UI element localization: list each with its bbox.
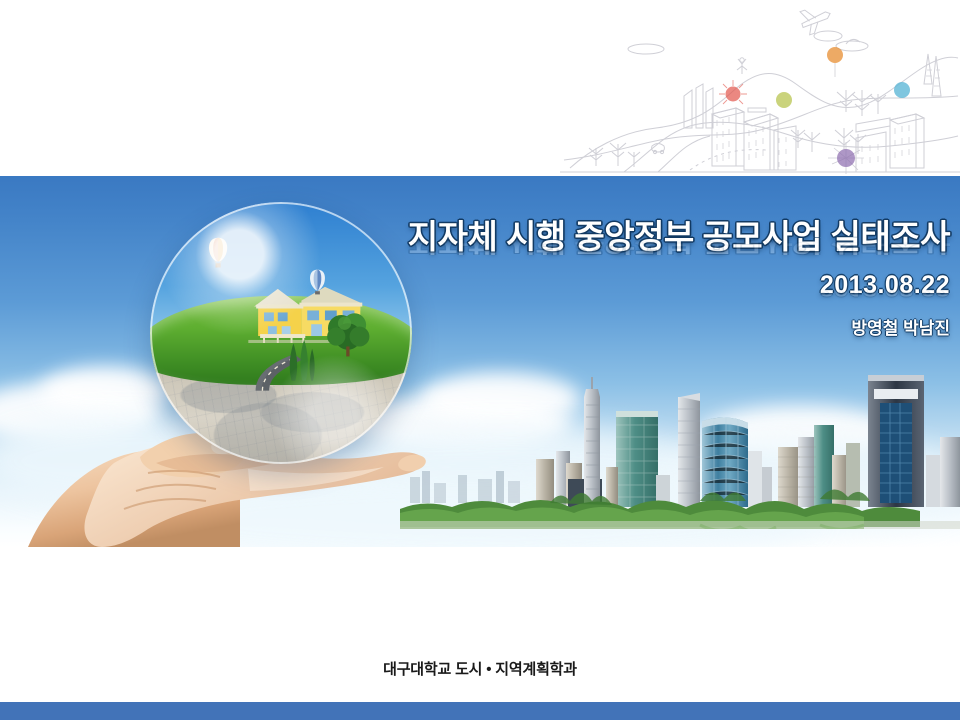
date-wrap: 2013.08.22 2013.08.22: [408, 271, 950, 300]
lineart-cityscape-illustration: [560, 0, 960, 176]
sphere-deciduous-tree: [323, 307, 373, 359]
page-title: 지자체 시행 중앙정부 공모사업 실태조사 지자체 시행 중앙정부 공모사업 실…: [408, 220, 950, 255]
footer-affiliation: 대구대학교 도시 • 지역계획학과: [0, 658, 960, 679]
presentation-title-slide: 지자체 시행 중앙정부 공모사업 실태조사 지자체 시행 중앙정부 공모사업 실…: [0, 0, 960, 720]
authors: 방영철 박남진: [408, 314, 950, 339]
title-block: 지자체 시행 중앙정부 공모사업 실태조사 지자체 시행 중앙정부 공모사업 실…: [408, 220, 950, 339]
lineart-color-accents: [719, 47, 910, 167]
sphere-conifer-trees: [284, 338, 321, 383]
presentation-date-text: 2013.08.22: [820, 271, 950, 299]
sphere-hot-air-balloon: [205, 236, 231, 270]
page-title-text: 지자체 시행 중앙정부 공모사업 실태조사: [408, 218, 950, 255]
sphere-hot-air-balloon-small: [307, 268, 328, 297]
glass-sphere: [150, 202, 412, 464]
presentation-date: 2013.08.22 2013.08.22: [408, 271, 950, 300]
city-skyline: [400, 359, 960, 529]
photo-band: 지자체 시행 중앙정부 공모사업 실태조사 지자체 시행 중앙정부 공모사업 실…: [0, 176, 960, 547]
bottom-accent-bar: [0, 702, 960, 720]
